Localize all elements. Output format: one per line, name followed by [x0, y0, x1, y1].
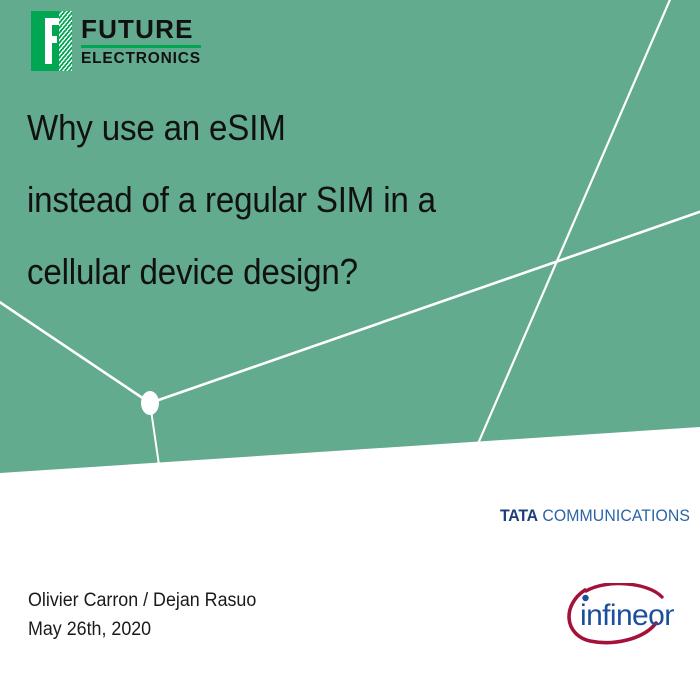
title-slide: FUTURE ELECTRONICS Why use an eSIM inste…: [0, 0, 700, 700]
f-glyph-top-arm: [45, 18, 59, 25]
future-electronics-f-mark-icon: [31, 11, 72, 71]
f-mark-hatch-pattern: [59, 11, 72, 71]
title-line-3: cellular device design?: [27, 236, 505, 308]
infineon-i-dot: [582, 595, 588, 601]
presentation-date: May 26th, 2020: [28, 615, 256, 644]
logo-word-electronics: ELECTRONICS: [81, 51, 201, 67]
presenter-block: Olivier Carron / Dejan Rasuo May 26th, 2…: [28, 586, 256, 644]
tata-wordmark-bold: TATA: [500, 506, 538, 525]
f-glyph-mid-arm: [45, 36, 57, 43]
future-electronics-wordmark: FUTURE ELECTRONICS: [81, 11, 201, 71]
title-line-2: instead of a regular SIM in a: [27, 164, 505, 236]
title-line-1: Why use an eSIM: [27, 92, 505, 164]
infineon-swoosh-icon: [586, 584, 662, 597]
tata-communications-logo: TATA COMMUNICATIONS: [500, 506, 690, 526]
logo-divider-rule: [81, 45, 201, 48]
infineon-wordmark: infineon: [580, 599, 674, 632]
tata-wordmark-regular: COMMUNICATIONS: [538, 506, 690, 525]
slide-title: Why use an eSIM instead of a regular SIM…: [27, 92, 505, 308]
infineon-logo: infineon: [552, 583, 674, 645]
future-electronics-logo: FUTURE ELECTRONICS: [31, 11, 201, 71]
logo-word-future: FUTURE: [81, 16, 201, 42]
presenter-names: Olivier Carron / Dejan Rasuo: [28, 586, 256, 615]
